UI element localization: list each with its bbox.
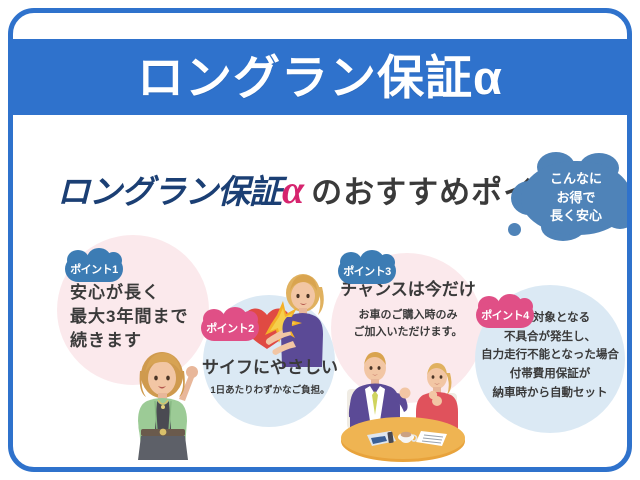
point-2-text: サイフにやさしい 1日あたりわずかなご負担。 xyxy=(202,356,338,398)
subheadline-alpha-symbol: α xyxy=(282,166,304,213)
point-3-badge-label: ポイント3 xyxy=(338,258,396,284)
point-3-subtext: お車のご購入時のみ ご加入いただけます。 xyxy=(332,307,484,340)
couple-at-table-icon xyxy=(333,351,473,463)
bubble-text: こんなに お得で 長く安心 xyxy=(521,161,631,235)
poster-frame: ロングラン保証α ロングラン保証 α のおすすめポイント こんなに お得で 長く… xyxy=(8,8,632,472)
point-3-text: チャンスは今だけ お車のご購入時のみ ご加入いただけます。 xyxy=(332,278,484,340)
bubble-line-3: 長く安心 xyxy=(550,207,602,226)
bubble-line-1: こんなに xyxy=(550,170,602,189)
banner-title: ロングラン保証α xyxy=(137,54,503,101)
point-2-subtext: 1日あたりわずかなご負担。 xyxy=(202,384,338,398)
point-2-badge-label: ポイント2 xyxy=(201,315,259,341)
point-2-heading: サイフにやさしい xyxy=(202,356,338,380)
point-4-badge: ポイント4 xyxy=(476,302,534,328)
woman-green-cardigan-icon xyxy=(121,343,209,461)
point-3-badge: ポイント3 xyxy=(338,258,396,284)
point-4-badge-label: ポイント4 xyxy=(476,302,534,328)
bubble-tail-icon xyxy=(508,223,521,236)
title-banner: ロングラン保証α xyxy=(13,39,627,115)
point-1-badge-label: ポイント1 xyxy=(65,256,123,282)
speech-bubble: こんなに お得で 長く安心 xyxy=(521,161,631,235)
warranty-poster: ロングラン保証α ロングラン保証 α のおすすめポイント こんなに お得で 長く… xyxy=(0,0,640,480)
subheadline-brand: ロングラン保証 xyxy=(57,165,281,213)
bubble-line-2: お得で xyxy=(556,189,595,208)
point-1-badge: ポイント1 xyxy=(65,256,123,282)
point-2-badge: ポイント2 xyxy=(201,315,259,341)
